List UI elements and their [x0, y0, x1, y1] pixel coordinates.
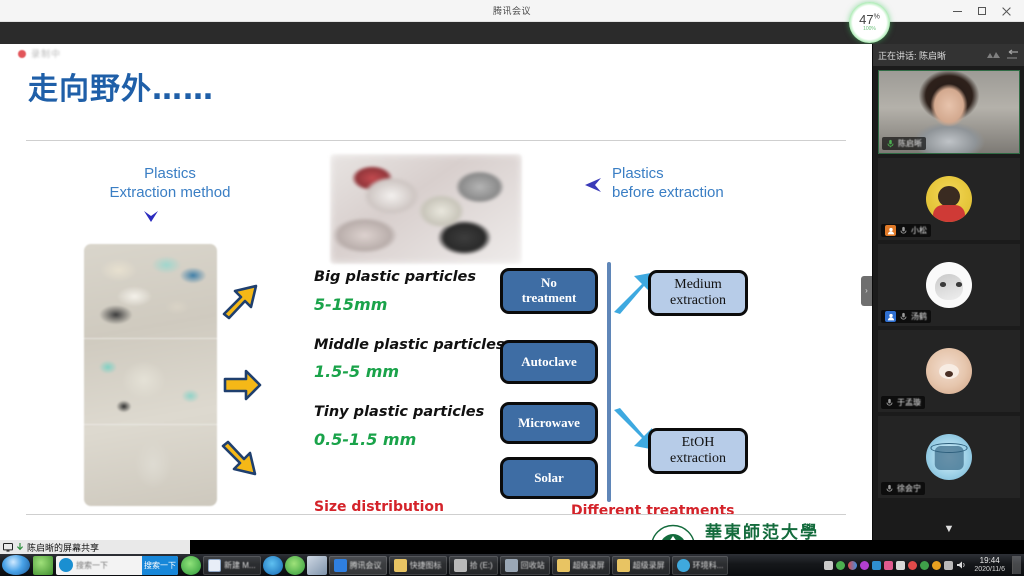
- chevron-down-icon: ▼: [944, 523, 955, 535]
- treatment-box-autoclave: Autoclave: [500, 340, 598, 384]
- bottom-divider: [26, 514, 846, 515]
- rail-collapse-handle[interactable]: ›: [861, 276, 872, 306]
- taskbar-button-drive-e[interactable]: 拾 (E:): [449, 556, 498, 575]
- share-bar-label: 陈启晰的屏幕共享: [27, 541, 99, 554]
- window-title: 腾讯会议: [493, 4, 531, 17]
- taskbar-button-super-recorder-2[interactable]: 超级录屏: [612, 556, 670, 575]
- clock-date: 2020/11/6: [974, 566, 1005, 573]
- taskbar-button-label: 回收站: [521, 560, 545, 571]
- particle-group: Middle plastic particles 1.5-5 mm: [314, 336, 504, 382]
- rail-header: 正在讲话: 陈启晰: [873, 44, 1024, 66]
- mic-on-icon: [886, 139, 895, 148]
- desktop-root: 腾讯会议 47% 100% 录制中 走向野外…… Plastics Extrac…: [0, 0, 1024, 576]
- speaking-now-label: 正在讲话: 陈启晰: [878, 49, 982, 62]
- collapse-rail-icon[interactable]: [1005, 49, 1020, 62]
- slide-title: 走向野外……: [28, 64, 214, 108]
- drive-icon: [454, 559, 467, 572]
- participant-tile[interactable]: 于孟璇: [878, 330, 1020, 412]
- document-icon: [677, 559, 690, 572]
- treatment-label: Notreatment: [522, 276, 577, 305]
- particle-group: Tiny plastic particles 0.5-1.5 mm: [314, 403, 504, 449]
- close-button[interactable]: [1001, 6, 1012, 17]
- taskbar-button-label: 超级录屏: [633, 560, 665, 571]
- participant-tile[interactable]: 徐会宁: [878, 416, 1020, 498]
- monitor-icon: [3, 543, 13, 552]
- participant-name: 陈启晰: [898, 138, 922, 149]
- shared-screen: 录制中 走向野外…… Plastics Extraction method Pl…: [0, 44, 872, 540]
- window-controls: [953, 0, 1020, 22]
- participant-rail: 正在讲话: 陈启晰 陈启晰: [872, 44, 1024, 540]
- recording-label: 录制中: [31, 47, 61, 60]
- tray-icon-blue[interactable]: [872, 561, 881, 570]
- particle-name: Tiny plastic particles: [314, 403, 504, 423]
- percent-sign: %: [874, 14, 880, 21]
- folder-icon: [557, 559, 570, 572]
- tray-network-icon[interactable]: [944, 561, 953, 570]
- screen-share-bar: 陈启晰的屏幕共享: [0, 540, 190, 554]
- avatar: [926, 434, 972, 480]
- plastics-extraction-label: Plastics Extraction method: [80, 164, 260, 202]
- extraction-label: Mediumextraction: [670, 277, 726, 309]
- recycle-bin-icon: [505, 559, 518, 572]
- treatment-box-solar: Solar: [500, 457, 598, 499]
- taskbar-button-label: 新建 M...: [224, 560, 256, 571]
- tray-icon-green[interactable]: [836, 561, 845, 570]
- mic-on-icon: [885, 398, 894, 407]
- particle-group: Big plastic particles 5-15mm: [314, 268, 504, 314]
- taskbar-button-label: 快捷图标: [410, 560, 442, 571]
- recording-indicator: 录制中: [18, 47, 61, 60]
- plastic-samples-photo: [84, 244, 217, 506]
- outlook-icon: [208, 559, 221, 572]
- taskbar-button-shortcuts[interactable]: 快捷图标: [389, 556, 447, 575]
- gallery-view-icon[interactable]: [986, 49, 1001, 62]
- ecnu-logo-text: 華東師范大學 EAST CHINA NORMALUNIVERSITY: [705, 525, 827, 540]
- treatment-label: Autoclave: [521, 355, 577, 370]
- plastics-closeup-photo: [330, 154, 522, 264]
- extraction-label: EtOHextraction: [670, 435, 726, 467]
- windows-taskbar: 搜索一下 搜索一下 新建 M... 腾讯会议 快捷图标 拾 (E:) 回收站: [0, 554, 1024, 576]
- particle-name: Middle plastic particles: [314, 336, 504, 356]
- particle-size: 0.5-1.5 mm: [314, 430, 504, 449]
- tray-icon-purple[interactable]: [860, 561, 869, 570]
- taskbar-button-label: 拾 (E:): [470, 560, 493, 571]
- treatment-label: Microwave: [518, 416, 580, 431]
- taskbar-button-recycle-bin[interactable]: 回收站: [500, 556, 550, 575]
- ecnu-name-cn: 華東師范大學: [705, 525, 827, 540]
- tray-icon-thermometer[interactable]: [896, 561, 905, 570]
- start-button[interactable]: [2, 555, 30, 575]
- before-label-line1: Plastics: [612, 164, 724, 183]
- minimize-button[interactable]: [953, 6, 964, 17]
- treatment-box-microwave: Microwave: [500, 402, 598, 444]
- battery-percent-badge: 47% 100%: [849, 2, 890, 43]
- folder-icon: [394, 559, 407, 572]
- participant-nameplate: 于孟璇: [881, 396, 925, 409]
- tray-icon-shield[interactable]: [920, 561, 929, 570]
- tray-icon-pink[interactable]: [884, 561, 893, 570]
- avatar: [926, 262, 972, 308]
- taskbar-button-tencent-meeting[interactable]: 腾讯会议: [329, 556, 387, 575]
- participant-tile[interactable]: 小松: [878, 158, 1020, 240]
- participant-nameplate: 小松: [881, 224, 931, 237]
- participant-name: 徐会宁: [897, 483, 921, 494]
- tray-icon-multicolor[interactable]: [848, 561, 857, 570]
- vertical-divider: [607, 262, 611, 502]
- participant-tile[interactable]: 汤鹤: [878, 244, 1020, 326]
- size-distribution-caption: Size distribution: [314, 499, 444, 515]
- battery-percent-value: 47: [859, 12, 873, 27]
- host-badge-icon: [885, 225, 896, 236]
- taskbar-icon-player[interactable]: [285, 556, 305, 575]
- participant-tile-active[interactable]: 陈启晰: [878, 70, 1020, 154]
- yellow-arrow-down-icon: [219, 440, 259, 478]
- participant-name: 汤鹤: [911, 311, 927, 322]
- taskbar-button-env-doc[interactable]: 环境科...: [672, 556, 729, 575]
- tray-show-hidden-icon[interactable]: [824, 561, 833, 570]
- extraction-box-etoh: EtOHextraction: [648, 428, 748, 474]
- mic-on-icon: [885, 484, 894, 493]
- chevron-left-icon: [584, 177, 602, 193]
- cohost-badge-icon: [885, 311, 896, 322]
- taskbar-button-label: 腾讯会议: [350, 560, 382, 571]
- title-divider: [26, 140, 846, 141]
- university-seal-icon: [650, 524, 696, 540]
- search-submit-button[interactable]: 搜索一下: [142, 556, 178, 575]
- taskbar-icon-kugou[interactable]: [263, 556, 283, 575]
- extraction-label-line1: Plastics: [80, 164, 260, 183]
- search-input[interactable]: 搜索一下: [76, 560, 142, 571]
- extraction-box-medium: Mediumextraction: [648, 270, 748, 316]
- taskbar-icon-browser[interactable]: [181, 556, 201, 575]
- participant-nameplate: 陈启晰: [882, 137, 926, 150]
- avatar: [926, 176, 972, 222]
- different-treatments-caption: Different treatments: [571, 503, 735, 519]
- taskbar-search[interactable]: 搜索一下 搜索一下: [56, 556, 178, 575]
- yellow-arrow-up-icon: [220, 282, 260, 320]
- maximize-button[interactable]: [977, 6, 988, 17]
- rail-scroll-down-button[interactable]: ▼: [873, 520, 1024, 538]
- browser-icon: [59, 558, 73, 572]
- avatar: [926, 348, 972, 394]
- yellow-arrow-right-icon: [222, 366, 262, 404]
- system-tray: 19:44 2020/11/6: [824, 556, 1024, 574]
- ecnu-logo: 華東師范大學 EAST CHINA NORMALUNIVERSITY: [650, 524, 827, 540]
- record-dot-icon: [18, 50, 26, 58]
- taskbar-button-outlook[interactable]: 新建 M...: [203, 556, 261, 575]
- taskbar-clock[interactable]: 19:44 2020/11/6: [974, 557, 1005, 573]
- taskbar-icon-excel[interactable]: [307, 556, 327, 575]
- participant-name: 于孟璇: [897, 397, 921, 408]
- taskbar-icon-green-app[interactable]: [33, 556, 53, 575]
- particle-size: 5-15mm: [314, 295, 504, 314]
- show-desktop-button[interactable]: [1012, 556, 1021, 574]
- download-arrow-icon: [16, 543, 24, 552]
- participant-name: 小松: [911, 225, 927, 236]
- before-label-line2: before extraction: [612, 183, 724, 202]
- plastics-before-extraction-label: Plastics before extraction: [612, 164, 724, 202]
- clock-time: 19:44: [974, 557, 1005, 565]
- taskbar-button-label: 超级录屏: [573, 560, 605, 571]
- tencent-meeting-icon: [334, 559, 347, 572]
- mic-on-icon: [899, 312, 908, 321]
- taskbar-button-super-recorder-1[interactable]: 超级录屏: [552, 556, 610, 575]
- particle-name: Big plastic particles: [314, 268, 504, 288]
- tray-icon-red[interactable]: [908, 561, 917, 570]
- folder-icon: [617, 559, 630, 572]
- participant-nameplate: 徐会宁: [881, 482, 925, 495]
- participant-nameplate: 汤鹤: [881, 310, 931, 323]
- treatment-box-no-treatment: Notreatment: [500, 268, 598, 314]
- particle-size-list: Big plastic particles 5-15mm Middle plas…: [314, 268, 504, 471]
- chevron-down-icon: [143, 210, 159, 224]
- taskbar-button-label: 环境科...: [693, 560, 724, 571]
- volume-icon[interactable]: [956, 560, 967, 570]
- collapse-chevron-icon: ›: [865, 287, 868, 295]
- mic-on-icon: [899, 226, 908, 235]
- treatment-label: Solar: [534, 471, 564, 486]
- extraction-label-line2: Extraction method: [80, 183, 260, 202]
- battery-sub-label: 100%: [863, 27, 876, 32]
- particle-size: 1.5-5 mm: [314, 362, 504, 381]
- tray-icon-orange[interactable]: [932, 561, 941, 570]
